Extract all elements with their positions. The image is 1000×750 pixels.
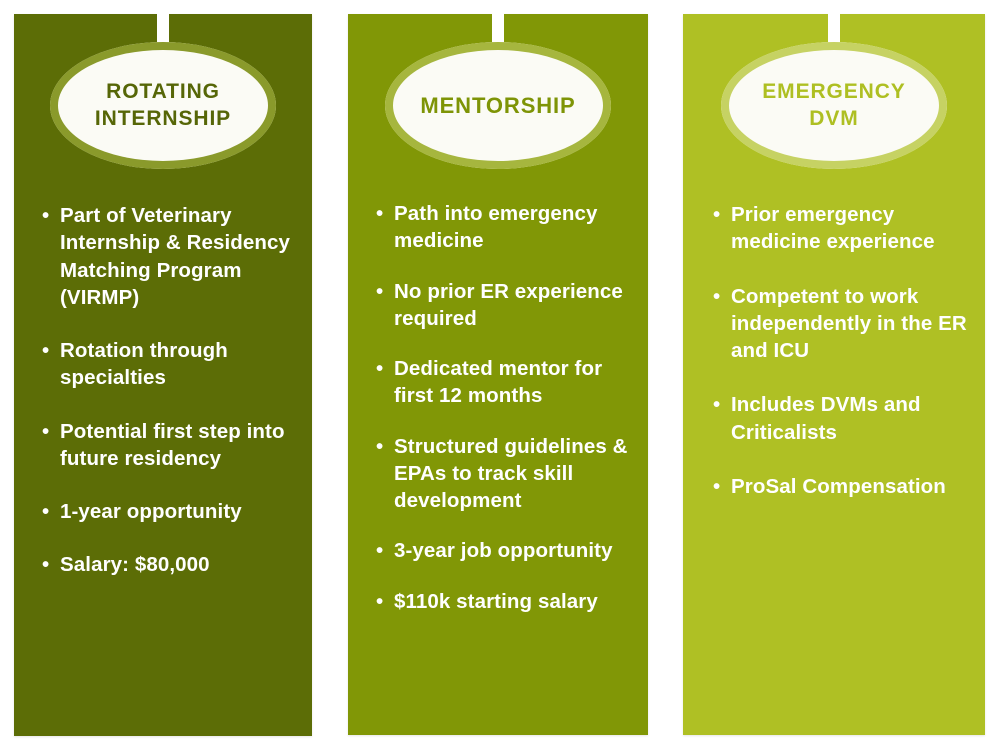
bullet-dot-icon: • [713,473,720,500]
bullet-dot-icon: • [42,498,49,525]
list-item-text: $110k starting salary [394,590,598,613]
list-item: • Part of Veterinary Internship & Reside… [42,202,296,311]
list-item-text: ProSal Compensation [731,475,946,498]
bullet-dot-icon: • [42,202,49,229]
bullet-dot-icon: • [376,200,383,227]
list-item: • Potential first step into future resid… [42,418,296,473]
bullet-dot-icon: • [713,201,720,228]
bullet-dot-icon: • [376,355,383,382]
list-item-text: Competent to work independently in the E… [731,285,967,363]
column-badge-rotating-internship: ROTATING INTERNSHIP [50,42,276,169]
bullet-list-emergency-dvm: • Prior emergency medicine experience • … [683,201,985,527]
list-item: • Dedicated mentor for first 12 months [376,355,636,410]
list-item-text: Dedicated mentor for first 12 months [394,357,602,407]
list-item-text: 3-year job opportunity [394,539,613,562]
list-item-text: No prior ER experience required [394,280,623,330]
list-item-text: Part of Veterinary Internship & Residenc… [60,204,290,309]
list-item-text: Potential first step into future residen… [60,420,285,470]
bullet-dot-icon: • [42,418,49,445]
list-item: • Path into emergency medicine [376,200,636,255]
column-mentorship: MENTORSHIP • Path into emergency medicin… [348,14,648,735]
bullet-dot-icon: • [376,433,383,460]
list-item: • Includes DVMs and Criticalists [713,391,971,446]
list-item: • Prior emergency medicine experience [713,201,971,256]
column-badge-emergency-dvm: EMERGENCY DVM [721,42,947,169]
list-item: • Structured guidelines & EPAs to track … [376,433,636,515]
bullet-dot-icon: • [376,278,383,305]
badge-label: ROTATING INTERNSHIP [79,79,247,131]
bullet-list-mentorship: • Path into emergency medicine • No prio… [348,200,648,638]
list-item-text: Structured guidelines & EPAs to track sk… [394,435,628,513]
list-item: • No prior ER experience required [376,278,636,333]
bullet-dot-icon: • [713,283,720,310]
list-item-text: 1-year opportunity [60,500,242,523]
list-item-text: Includes DVMs and Criticalists [731,393,921,443]
list-item: • Competent to work independently in the… [713,283,971,365]
infographic-board: ROTATING INTERNSHIP • Part of Veterinary… [0,0,1000,750]
column-emergency-dvm: EMERGENCY DVM • Prior emergency medicine… [683,14,985,735]
list-item: • ProSal Compensation [713,473,971,500]
badge-label: EMERGENCY DVM [746,79,921,131]
bullet-dot-icon: • [376,537,383,564]
list-item: • 3-year job opportunity [376,537,636,564]
bullet-dot-icon: • [376,588,383,615]
list-item: • $110k starting salary [376,588,636,615]
column-rotating-internship: ROTATING INTERNSHIP • Part of Veterinary… [14,14,312,736]
list-item-text: Rotation through specialties [60,339,228,389]
list-item-text: Salary: $80,000 [60,553,210,576]
list-item: • Rotation through specialties [42,337,296,392]
badge-label: MENTORSHIP [404,92,591,119]
bullet-dot-icon: • [42,337,49,364]
list-item-text: Prior emergency medicine experience [731,203,935,253]
list-item-text: Path into emergency medicine [394,202,598,252]
list-item: • Salary: $80,000 [42,551,296,578]
bullet-dot-icon: • [42,551,49,578]
bullet-dot-icon: • [713,391,720,418]
column-badge-mentorship: MENTORSHIP [385,42,611,169]
list-item: • 1-year opportunity [42,498,296,525]
bullet-list-rotating-internship: • Part of Veterinary Internship & Reside… [14,202,312,605]
